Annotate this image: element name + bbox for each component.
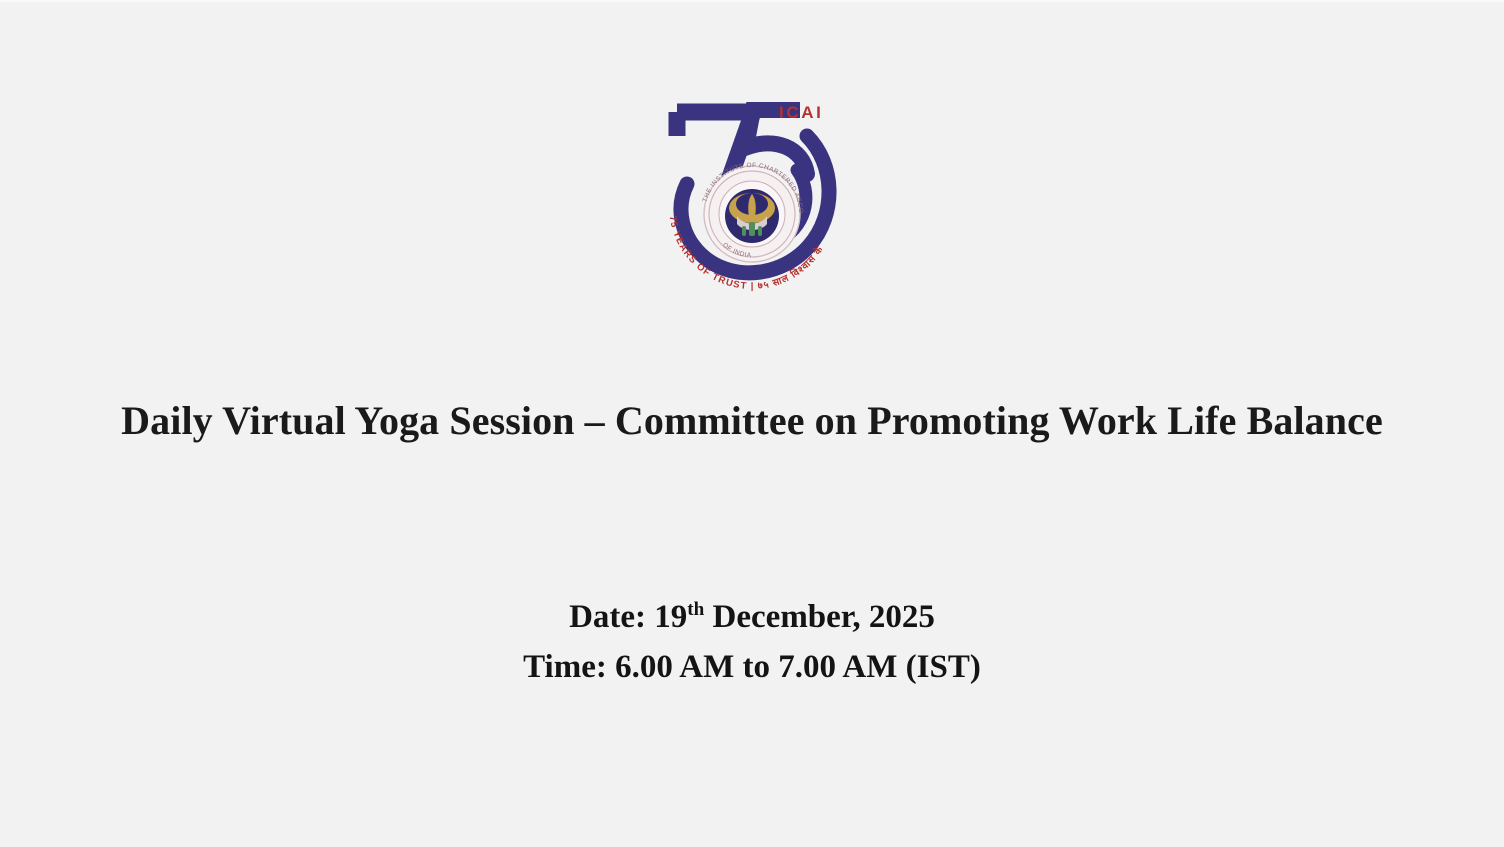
session-time-line: Time: 6.00 AM to 7.00 AM (IST) <box>0 642 1504 692</box>
date-month-year: December, 2025 <box>704 599 935 635</box>
icai-75-years-logo: ICAI THE INSTITUTE OF CHARTERED ACCOUNTA… <box>657 96 847 292</box>
session-details: Date: 19th December, 2025 Time: 6.00 AM … <box>0 592 1504 692</box>
top-edge-hairline <box>0 0 1504 2</box>
date-ordinal-suffix: th <box>687 599 704 620</box>
logo-container: ICAI THE INSTITUTE OF CHARTERED ACCOUNTA… <box>0 96 1504 292</box>
slide-title: Daily Virtual Yoga Session – Committee o… <box>0 398 1504 444</box>
date-label: Date: <box>569 599 646 635</box>
date-day: 19 <box>654 599 687 635</box>
presentation-slide: ICAI THE INSTITUTE OF CHARTERED ACCOUNTA… <box>0 0 1504 847</box>
session-date-line: Date: 19th December, 2025 <box>0 592 1504 642</box>
icai-wordmark: ICAI <box>779 103 823 122</box>
